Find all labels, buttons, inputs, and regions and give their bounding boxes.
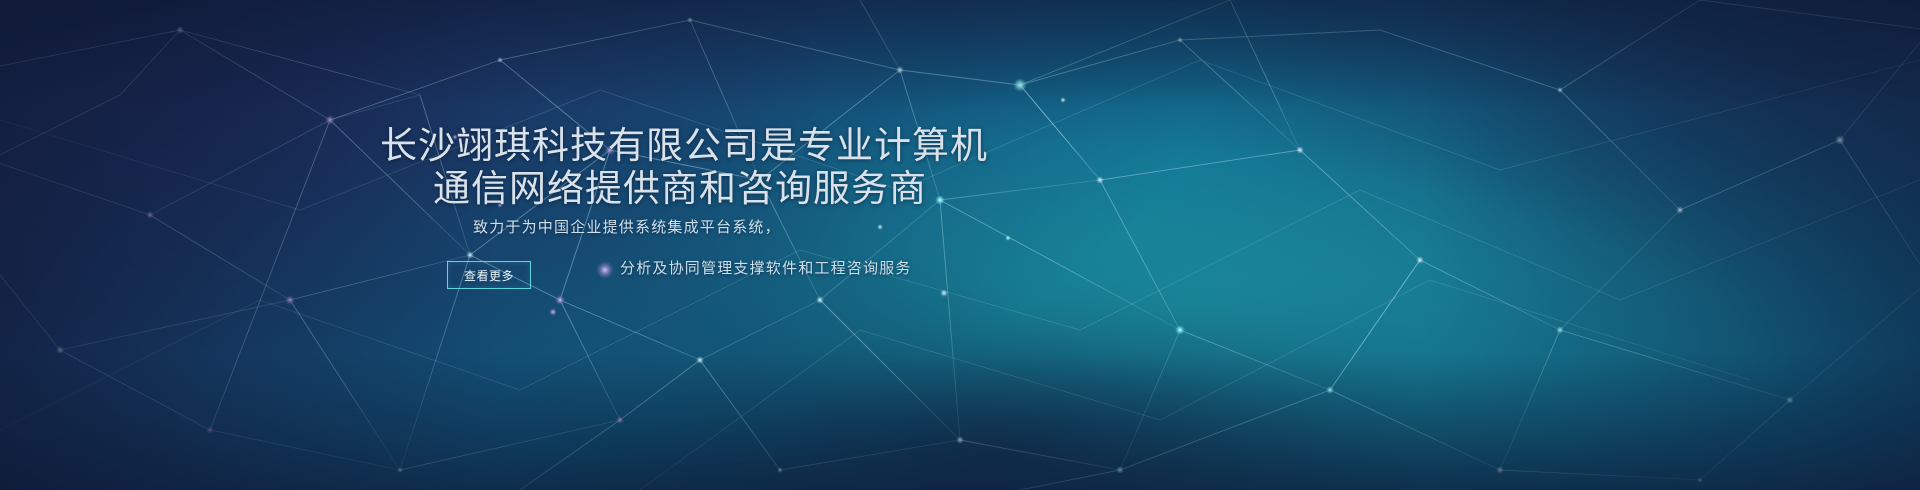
hero-headline: 长沙翊琪科技有限公司是专业计算机 通信网络提供商和咨询服务商 [380,125,980,211]
headline-line-1: 长沙翊琪科技有限公司是专业计算机 [380,125,980,168]
hero-banner: 长沙翊琪科技有限公司是专业计算机 通信网络提供商和咨询服务商 致力于为中国企业提… [0,0,1920,490]
headline-line-2: 通信网络提供商和咨询服务商 [380,168,980,211]
hero-subtitle-line-2: 分析及协同管理支撑软件和工程咨询服务 [620,257,912,278]
hero-content: 长沙翊琪科技有限公司是专业计算机 通信网络提供商和咨询服务商 致力于为中国企业提… [0,0,1920,490]
view-more-button[interactable]: 查看更多 [447,261,531,289]
hero-subtitle-line-1: 致力于为中国企业提供系统集成平台系统， [473,216,781,237]
